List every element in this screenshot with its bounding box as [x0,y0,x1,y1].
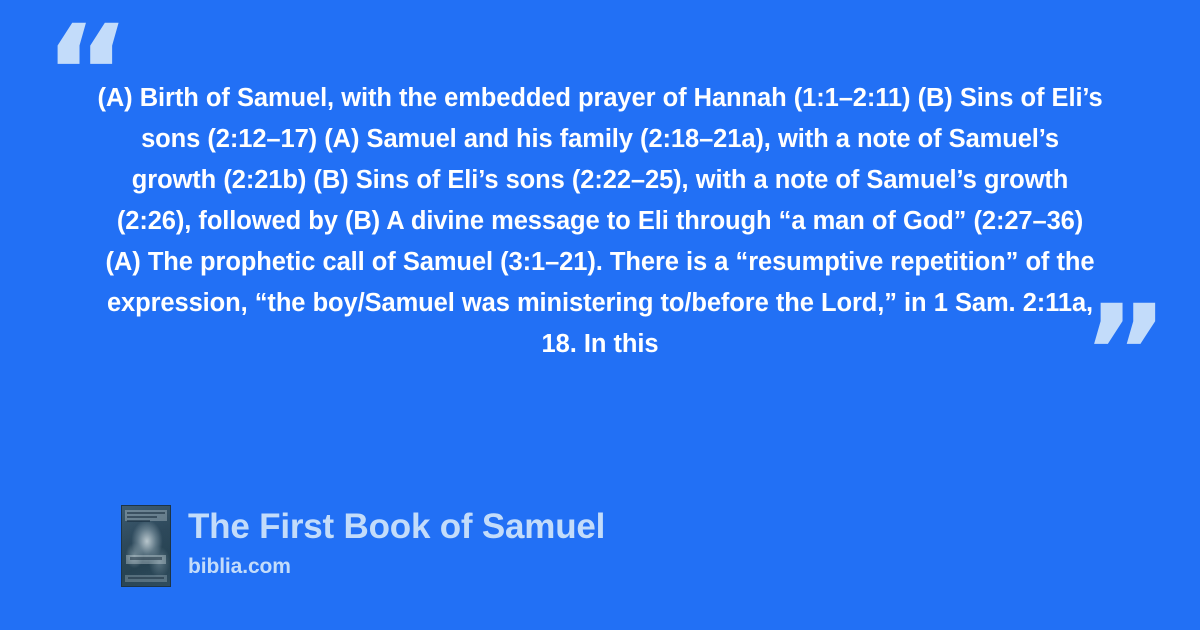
book-cover-author-text [125,575,167,582]
book-title: The First Book of Samuel [188,506,605,547]
book-cover-top-text [125,510,167,521]
quote-card: “ (A) Birth of Samuel, with the embedded… [0,0,1200,630]
quote-text: (A) Birth of Samuel, with the embedded p… [96,78,1104,365]
book-cover-title-text [126,555,166,564]
footer-text-group: The First Book of Samuel biblia.com [188,505,605,580]
closing-quote-icon: ” [1082,288,1169,420]
quote-block: (A) Birth of Samuel, with the embedded p… [96,78,1104,365]
footer: The First Book of Samuel biblia.com [121,505,605,587]
book-cover-thumbnail [121,505,171,587]
site-name: biblia.com [188,554,605,580]
